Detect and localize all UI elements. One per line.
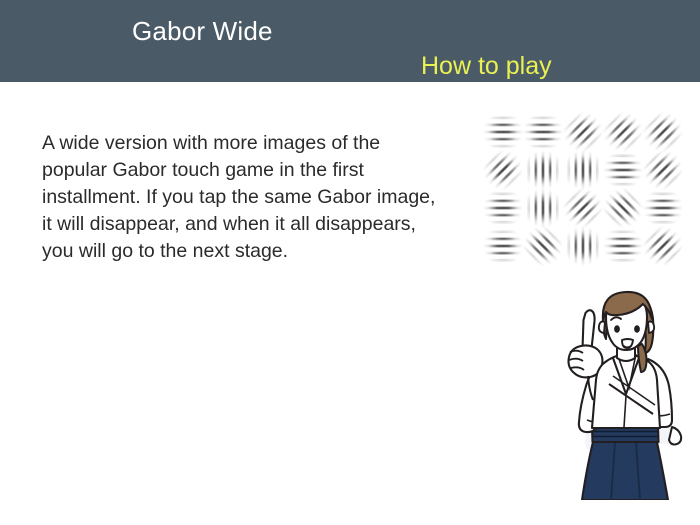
- gabor-patch-cell[interactable]: [643, 189, 683, 227]
- gabor-patch-horizontal: [603, 150, 643, 190]
- gabor-patch-cell[interactable]: [603, 227, 643, 265]
- gabor-patch-horizontal: [483, 112, 523, 152]
- gabor-patch-cell[interactable]: [563, 151, 603, 189]
- gabor-patch-cell[interactable]: [483, 151, 523, 189]
- gabor-patch-diagonal-right: [643, 226, 683, 266]
- gabor-patch-cell[interactable]: [643, 227, 683, 265]
- gabor-patch-vertical: [523, 150, 563, 190]
- gabor-patch-cell[interactable]: [643, 113, 683, 151]
- gabor-patch-cell[interactable]: [643, 151, 683, 189]
- gabor-patch-horizontal: [523, 112, 563, 152]
- gabor-patch-diagonal-right: [563, 112, 603, 152]
- gabor-patch-cell[interactable]: [523, 227, 563, 265]
- gabor-patch-diagonal-right: [603, 112, 643, 152]
- gabor-patch-cell[interactable]: [563, 189, 603, 227]
- gabor-patch-diagonal-right: [483, 150, 523, 190]
- gabor-patch-horizontal: [483, 226, 523, 266]
- gabor-patch-vertical: [563, 226, 603, 266]
- gabor-patch-cell[interactable]: [523, 113, 563, 151]
- gabor-patch-horizontal: [643, 188, 683, 228]
- section-label-how-to-play: How to play: [421, 52, 552, 81]
- gabor-patch-cell[interactable]: [563, 227, 603, 265]
- gabor-patch-cell[interactable]: [603, 151, 643, 189]
- header-band: Gabor Wide How to play: [0, 0, 700, 82]
- hakama: [582, 440, 668, 500]
- gabor-patch-diagonal-left: [523, 226, 563, 266]
- gabor-patch-cell[interactable]: [523, 151, 563, 189]
- gabor-patch-cell[interactable]: [603, 113, 643, 151]
- gabor-patch-cell[interactable]: [563, 113, 603, 151]
- gabor-patch-diagonal-right: [643, 150, 683, 190]
- description-text: A wide version with more images of the p…: [42, 130, 442, 265]
- gabor-patch-cell[interactable]: [483, 227, 523, 265]
- gabor-patch-cell[interactable]: [483, 113, 523, 151]
- gabor-patch-horizontal: [603, 226, 643, 266]
- gabor-patch-horizontal: [483, 188, 523, 228]
- gabor-patch-vertical: [563, 150, 603, 190]
- gabor-patch-vertical: [523, 188, 563, 228]
- page-title: Gabor Wide: [132, 16, 273, 47]
- gabor-patch-cell[interactable]: [603, 189, 643, 227]
- gabor-patch-grid: [483, 113, 683, 265]
- gabor-patch-cell[interactable]: [483, 189, 523, 227]
- gabor-patch-diagonal-right: [563, 188, 603, 228]
- kimono-top: [592, 354, 660, 428]
- gabor-patch-cell[interactable]: [523, 189, 563, 227]
- character-illustration: [541, 288, 700, 500]
- gabor-patch-diagonal-right: [643, 112, 683, 152]
- gabor-patch-diagonal-left: [603, 188, 643, 228]
